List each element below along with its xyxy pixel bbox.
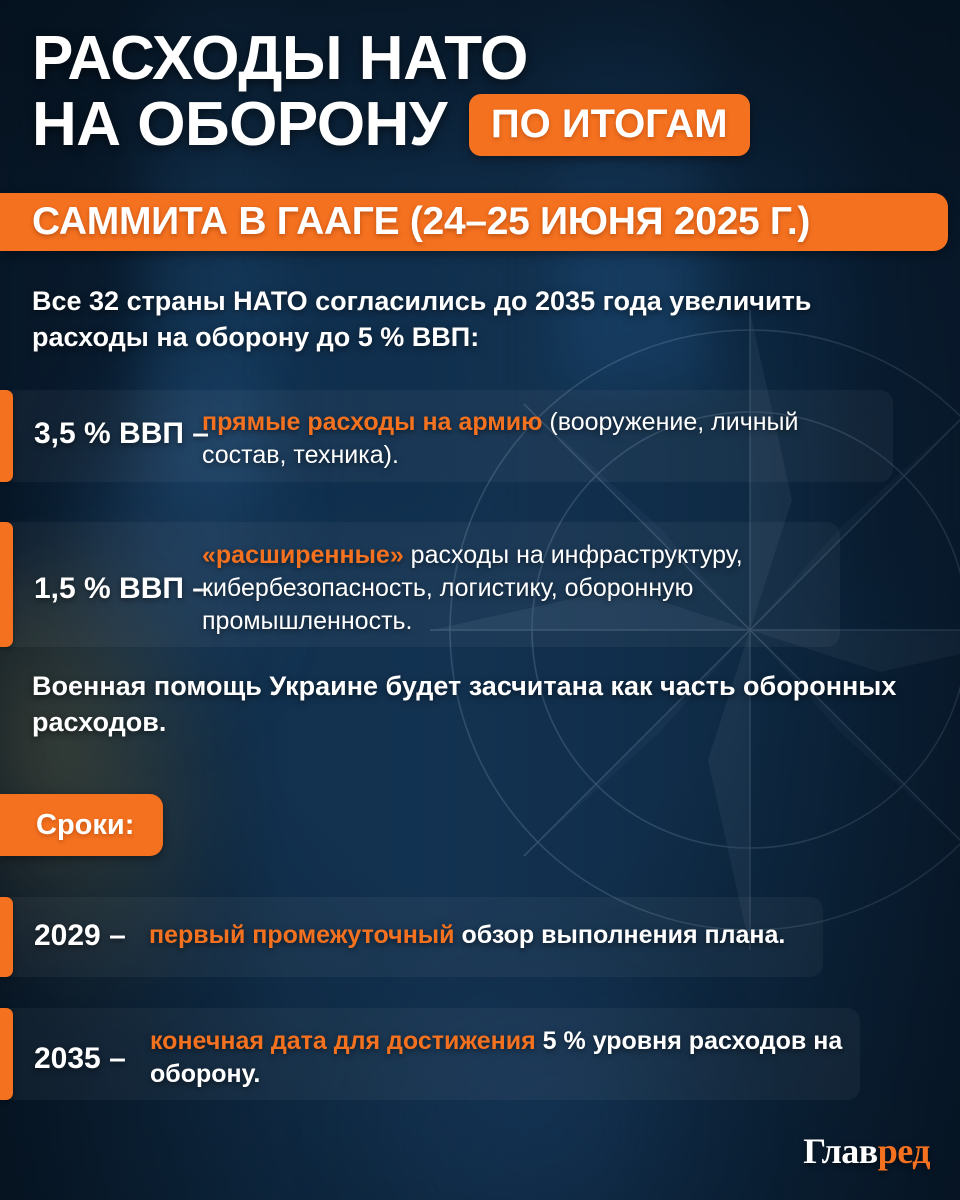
timeline-desc-2-highlight: конечная дата для достижения [150, 1027, 536, 1055]
timeline-year-1: 2029 – [34, 919, 149, 953]
title-row-2: НА ОБОРОНУ ПО ИТОГАМ [32, 92, 922, 158]
timeline-desc-1-highlight: первый промежуточный [149, 921, 455, 949]
timeline-dash-2: – [109, 1042, 126, 1075]
statement-paragraph: Военная помощь Украине будет засчитана к… [32, 668, 912, 740]
timeline-dash-1: – [109, 919, 126, 952]
breakdown-content-2: 1,5 % ВВП – «расширенные» расходы на инф… [34, 539, 834, 638]
glavred-logo-part-white: Глав [803, 1131, 877, 1171]
summit-result-badge: ПО ИТОГАМ [469, 94, 750, 156]
timeline-content-2: 2035 – конечная дата для достижения 5 % … [34, 1025, 854, 1091]
summit-date-banner-label: САММИТА В ГААГЕ (24–25 ИЮНЯ 2025 Г.) [32, 201, 810, 243]
breakdown-desc-2-highlight: «расширенные» [202, 541, 404, 569]
intro-paragraph: Все 32 страны НАТО согласились до 2035 г… [32, 283, 902, 355]
timeline-content-1: 2029 – первый промежуточный обзор выполн… [34, 919, 814, 953]
breakdown-content-1: 3,5 % ВВП – прямые расходы на армию (воо… [34, 406, 879, 472]
timeline-year-2: 2035 – [34, 1042, 150, 1076]
timeline-tab-2 [0, 1008, 13, 1100]
page-title: РАСХОДЫ НАТО НА ОБОРОНУ ПО ИТОГАМ [32, 26, 922, 158]
timeline-label-badge: Сроки: [0, 794, 163, 856]
infographic-poster: РАСХОДЫ НАТО НА ОБОРОНУ ПО ИТОГАМ САММИТ… [0, 0, 960, 1200]
glavred-logo-part-orange: ред [878, 1131, 930, 1171]
breakdown-value-2: 1,5 % ВВП – [34, 572, 202, 606]
timeline-label-text: Сроки: [36, 809, 134, 841]
poster-content: РАСХОДЫ НАТО НА ОБОРОНУ ПО ИТОГАМ САММИТ… [0, 0, 960, 1200]
summit-date-banner: САММИТА В ГААГЕ (24–25 ИЮНЯ 2025 Г.) [0, 193, 948, 251]
summit-result-badge-label: ПО ИТОГАМ [491, 104, 728, 144]
breakdown-tab-1 [0, 390, 13, 482]
glavred-logo[interactable]: Главред [803, 1132, 930, 1170]
breakdown-desc-2: «расширенные» расходы на инфраструктуру,… [202, 539, 822, 638]
timeline-year-1-text: 2029 [34, 919, 101, 952]
title-line-1: РАСХОДЫ НАТО [32, 26, 922, 92]
breakdown-tab-2 [0, 522, 13, 647]
breakdown-value-1: 3,5 % ВВП – [34, 417, 202, 451]
breakdown-value-1-text: 3,5 % ВВП [34, 417, 184, 450]
timeline-desc-1-rest: обзор выполнения плана. [455, 921, 786, 949]
breakdown-desc-1-highlight: прямые расходы на армию [202, 408, 542, 436]
breakdown-value-2-text: 1,5 % ВВП [34, 572, 184, 605]
title-line-2: НА ОБОРОНУ [32, 92, 447, 158]
timeline-year-2-text: 2035 [34, 1042, 101, 1075]
timeline-tab-1 [0, 897, 13, 977]
breakdown-desc-1: прямые расходы на армию (вооружение, лич… [202, 406, 862, 472]
timeline-desc-1: первый промежуточный обзор выполнения пл… [149, 919, 809, 952]
timeline-desc-2: конечная дата для достижения 5 % уровня … [150, 1025, 850, 1091]
